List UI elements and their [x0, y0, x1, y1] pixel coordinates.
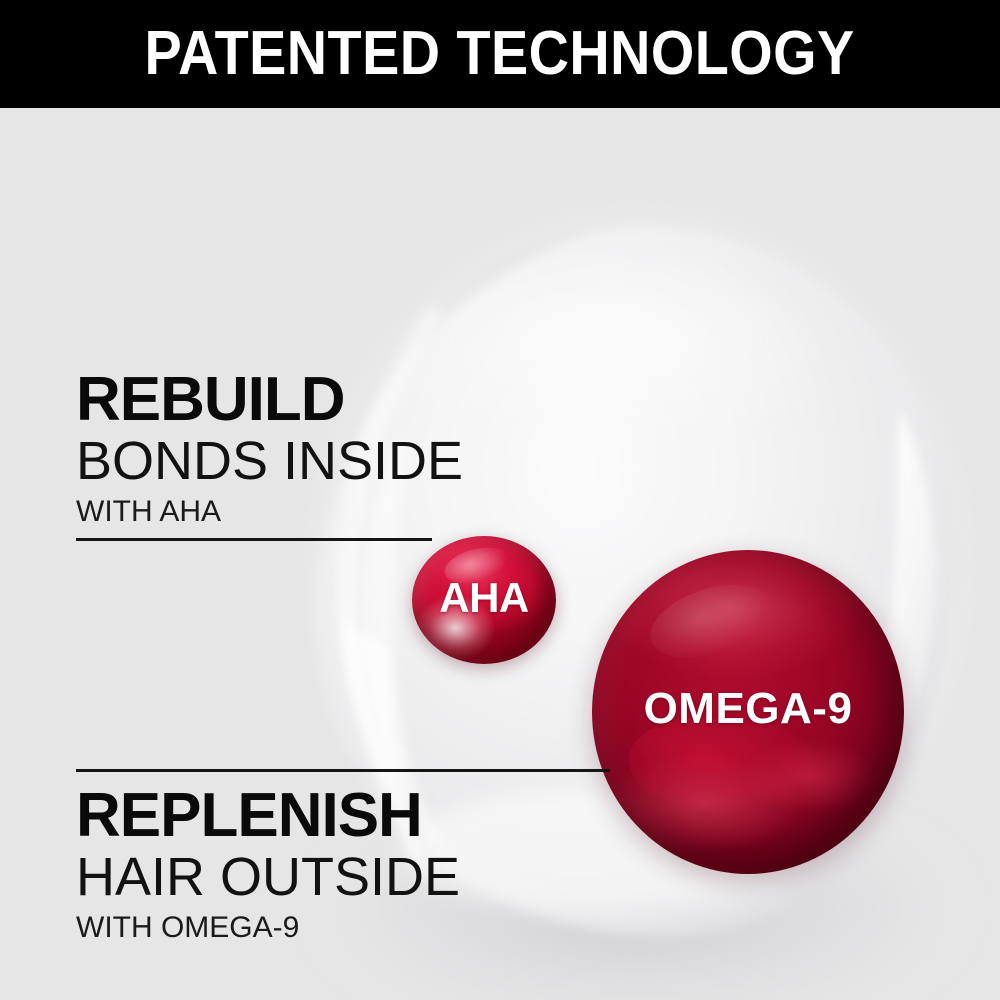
replenish-headline: REPLENISH — [76, 786, 460, 847]
aha-bubble-label: AHA — [412, 574, 556, 622]
omega9-bubble-label: OMEGA-9 — [592, 684, 904, 734]
replenish-detail: WITH OMEGA-9 — [76, 911, 460, 944]
patented-technology-infographic: PATENTED TECHNOLOGY — [0, 0, 1000, 1000]
header-bar: PATENTED TECHNOLOGY — [0, 0, 1000, 108]
benefit-block-rebuild: REBUILD BONDS INSIDE WITH AHA — [76, 370, 463, 528]
rebuild-connector-rule — [76, 538, 432, 541]
rebuild-subhead: BONDS INSIDE — [76, 433, 463, 490]
replenish-connector-rule — [76, 769, 610, 772]
rebuild-detail: WITH AHA — [76, 495, 463, 528]
benefit-block-replenish: REPLENISH HAIR OUTSIDE WITH OMEGA-9 — [76, 786, 460, 944]
rebuild-headline: REBUILD — [76, 370, 463, 431]
product-photo-area: AHA OMEGA-9 REBUILD BONDS INSIDE WITH AH… — [0, 108, 1000, 1000]
page-title: PATENTED TECHNOLOGY — [145, 23, 855, 85]
replenish-subhead: HAIR OUTSIDE — [76, 849, 460, 906]
omega9-bubble: OMEGA-9 — [592, 550, 904, 874]
aha-bubble: AHA — [412, 536, 556, 664]
